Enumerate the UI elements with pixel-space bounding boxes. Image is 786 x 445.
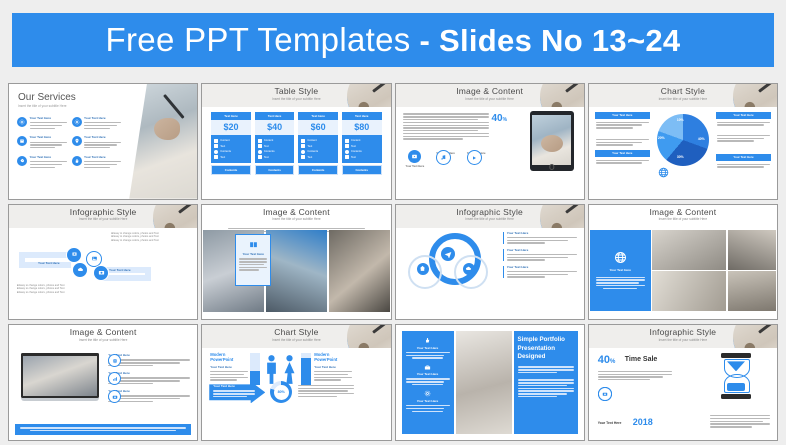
stat-unit: %	[610, 359, 615, 365]
slide-thumbnail-chart-style-people[interactable]: Chart Style Insert the title of your sub…	[201, 324, 391, 441]
slide5-header: Infographic Style Insert the title of yo…	[9, 205, 197, 228]
slide-thumbnail-image-content-tablet[interactable]: Image & Content Insert the title of your…	[395, 83, 585, 200]
presentation-icon[interactable]	[66, 247, 82, 263]
chart-callout[interactable]	[716, 132, 771, 143]
airplane-icon[interactable]	[441, 247, 455, 261]
rocket-icon	[17, 156, 27, 166]
chart-callout[interactable]: Your Text Here	[716, 154, 771, 169]
column-rows: Content Text Contents Text	[255, 135, 295, 163]
column-rows: Content Text Contents Text	[298, 135, 338, 163]
slide9-footer-banner	[15, 424, 191, 435]
slide9-subtitle: Insert the title of your subtitle Here	[9, 338, 197, 342]
slide12-footer-body	[710, 414, 770, 429]
left-label: Modern PowerPoint	[210, 353, 248, 363]
portfolio-photo	[456, 331, 512, 434]
service-label: Your Text Here	[30, 136, 67, 140]
item-label: Your Text Here	[406, 347, 450, 351]
slide7-items: Your Text Here Your Text Here Your Text …	[503, 232, 577, 283]
screenshot-page: Free PPT Templates - Slides No 13~24 Our…	[0, 0, 786, 445]
ring-item[interactable]: Your Text Here	[503, 249, 577, 261]
callout-head: Your Text Here	[595, 112, 650, 119]
settings-icon	[72, 117, 82, 127]
column-button[interactable]: Contents	[342, 165, 382, 175]
slide8-subtitle: Insert the title of your subtitle Here	[589, 217, 777, 221]
photo	[652, 271, 727, 311]
cloud-icon[interactable]	[463, 263, 475, 275]
chart-callout[interactable]	[595, 136, 650, 147]
row-label: Text	[307, 145, 312, 148]
portfolio-item[interactable]: Your Text Here	[406, 363, 450, 386]
slide1-photo	[129, 84, 197, 199]
page-banner: Free PPT Templates - Slides No 13~24	[12, 13, 774, 67]
slide-thumbnail-image-content-photos[interactable]: Image & Content Insert the title of your…	[201, 204, 391, 321]
cloud-icon[interactable]	[72, 262, 88, 278]
banner-title: Free PPT Templates - Slides No 13~24	[106, 21, 681, 59]
slide8-title: Image & Content	[589, 207, 777, 217]
column-price: $60	[298, 120, 338, 135]
pricing-columns: Text Here $20 Content Text Contents Text…	[211, 112, 381, 175]
slice-label-40: 40%	[698, 137, 705, 141]
slice-label-20: 20%	[658, 136, 665, 140]
banner-title-main: Free PPT Templates	[106, 21, 411, 58]
service-label: Your Text Here	[84, 136, 121, 140]
chart-callout[interactable]: Your Text Here	[595, 112, 650, 130]
callout-head: Your Text Here	[716, 154, 771, 161]
feature-item[interactable]: Your Text Here	[108, 390, 190, 403]
music-note-icon	[436, 150, 451, 165]
bullet-item: ■ Easy to change colors, photos and Text	[111, 239, 189, 243]
portfolio-item[interactable]: Your Text Here	[406, 336, 450, 359]
slide12-body	[598, 369, 672, 382]
slide-thumbnail-chart-style-donut[interactable]: Chart Style Insert the title of your sub…	[588, 83, 778, 200]
stat-value: 40	[492, 113, 503, 124]
slide-thumbnail-table-style[interactable]: Table Style Insert the title of your sub…	[201, 83, 391, 200]
slide6-title: Image & Content	[202, 207, 390, 217]
percent-gauge: 80%	[270, 381, 292, 403]
gear-icon	[423, 389, 432, 398]
item-head: Your Text Here	[507, 232, 577, 236]
pricing-column[interactable]: Text Here $80 Content Text Contents Text…	[342, 112, 382, 175]
slide3-body-text	[403, 112, 489, 141]
corner-photo	[151, 205, 197, 228]
portfolio-title: Simple Portfolio Presentation Designed	[518, 336, 574, 361]
tablet-device-mockup	[530, 111, 574, 171]
column-head: Text Here	[298, 112, 338, 120]
stat-unit: %	[503, 117, 507, 123]
laptop-mockup	[21, 353, 99, 401]
slide4-header: Chart Style Insert the title of your sub…	[589, 84, 777, 107]
globe-icon	[613, 250, 628, 265]
slide-thumbnail-image-content-collage[interactable]: Image & Content Insert the title of your…	[588, 204, 778, 321]
media-icon-item[interactable]: Your Text Here	[406, 150, 425, 168]
flow-label-left: Your Text Here	[38, 262, 60, 266]
row-label: Text	[351, 156, 356, 159]
play-circle-icon	[467, 150, 482, 165]
donut-chart: 10% 20% 30% 40%	[657, 114, 709, 166]
slide-thumbnail-infographic-rings[interactable]: Infographic Style Insert the title of yo…	[395, 204, 585, 321]
row-label: Content	[264, 139, 273, 142]
service-label: Your Text Here	[30, 156, 67, 160]
book-open-icon	[248, 239, 259, 250]
chart-callout[interactable]: Your Text Here	[716, 112, 771, 127]
slide9-items: Your Text Here Your Text Here Your Text …	[108, 354, 190, 408]
slide-thumbnail-our-services[interactable]: Our Services Insert the title of your su…	[8, 83, 198, 200]
thumbs-up-icon	[423, 336, 432, 345]
arrow-head: Your Text Here	[213, 385, 261, 389]
row-label: Text	[351, 145, 356, 148]
slide5-bullets-top: ■ Easy to change colors, photos and Text…	[111, 232, 189, 243]
slide7-header: Infographic Style Insert the title of yo…	[396, 205, 584, 228]
icon-caption: Your Text Here	[406, 165, 425, 168]
service-item[interactable]: Your Text Here	[72, 117, 122, 130]
card-label: Your Text Here	[239, 253, 267, 257]
slide12-header: Infographic Style Insert the title of yo…	[589, 325, 777, 348]
gear-icon	[17, 117, 27, 127]
row-label: Text	[264, 145, 269, 148]
ring-item[interactable]: Your Text Here	[503, 266, 577, 278]
slide9-title: Image & Content	[9, 327, 197, 337]
service-item[interactable]: Your Text Here	[17, 156, 67, 169]
corner-photo	[538, 205, 584, 228]
bullet-item: ■ Easy to change colors, photos and Text	[17, 291, 93, 295]
row-label: Contents	[220, 150, 231, 153]
slide6-header: Image & Content Insert the title of your…	[202, 205, 390, 228]
ring-item[interactable]: Your Text Here	[503, 232, 577, 244]
panel-label: Your Text Here	[609, 269, 631, 273]
hourglass-icon	[721, 353, 751, 399]
slice-label-30: 30%	[677, 155, 684, 159]
column-button[interactable]: Contents	[255, 165, 295, 175]
photo	[652, 230, 727, 270]
item-label: Your Text Here	[406, 373, 450, 377]
slide1-subtitle: Insert the title of your subtitle Here	[18, 104, 76, 108]
callout-head: Your Text Here	[716, 112, 771, 119]
row-label: Text	[220, 145, 225, 148]
slide5-bullets-bottom: ■ Easy to change colors, photos and Text…	[17, 284, 93, 295]
row-label: Contents	[351, 150, 362, 153]
slide10-right-block: Modern PowerPoint Your Text Here	[314, 353, 352, 382]
service-label: Your Text Here	[84, 156, 121, 160]
slide10-header: Chart Style Insert the title of your sub…	[202, 325, 390, 348]
year-value: 2018	[633, 417, 653, 427]
service-item[interactable]: Your Text Here	[17, 117, 67, 130]
video-play-icon	[408, 150, 421, 163]
photo-collage	[652, 230, 776, 312]
globe-icon	[657, 166, 709, 179]
service-label: Your Text Here	[30, 117, 67, 121]
photo-row	[202, 230, 390, 313]
slide2-header: Table Style Insert the title of your sub…	[202, 84, 390, 107]
service-item[interactable]: Your Text Here	[72, 156, 122, 169]
slide3-stat: 40%	[492, 113, 508, 124]
slide6-subtitle: Insert the title of your subtitle Here	[202, 217, 390, 221]
bar-gauge-right	[301, 353, 311, 385]
right-label: Modern PowerPoint	[314, 353, 352, 363]
chart-callout[interactable]: Your Text Here	[595, 150, 650, 165]
slide10-left-block: Modern PowerPoint Your Text Here	[210, 353, 248, 382]
camera-icon[interactable]	[93, 265, 109, 281]
slice-label-10: 10%	[677, 118, 684, 122]
row-label: Text	[264, 156, 269, 159]
slide-grid: Our Services Insert the title of your su…	[8, 83, 778, 441]
item-head: Your Text Here	[507, 266, 577, 270]
camera-icon[interactable]	[598, 387, 612, 401]
right-sub: Your Text Here	[314, 366, 352, 370]
column-button[interactable]: Contents	[298, 165, 338, 175]
corner-photo	[538, 84, 584, 107]
banner-title-rest: - Slides No 13~24	[419, 23, 680, 58]
slide9-header: Image & Content Insert the title of your…	[9, 325, 197, 348]
flow-label-right: Your Text Here	[109, 269, 131, 273]
media-icon-item[interactable]: Your Text Here	[467, 150, 486, 168]
column-price: $40	[255, 120, 295, 135]
photo	[266, 230, 327, 313]
row-label: Content	[307, 139, 316, 142]
gauge-value: 80%	[274, 385, 289, 400]
slide1-service-grid: Your Text Here Your Text Here Your Text …	[17, 117, 121, 169]
slide8-header: Image & Content Insert the title of your…	[589, 205, 777, 228]
slide10-right-body	[298, 383, 354, 398]
corner-photo	[731, 325, 777, 348]
item-head: Your Text Here	[507, 249, 577, 253]
pricing-column[interactable]: Text Here $20 Content Text Contents Text…	[211, 112, 251, 175]
column-rows: Content Text Contents Text	[211, 135, 251, 163]
slide3-media-icons: Your Text Here Your Text Here Your Text …	[406, 150, 486, 168]
feature-item[interactable]: Your Text Here	[108, 354, 190, 367]
time-sale-label: Time Sale	[625, 356, 658, 363]
portfolio-right-panel[interactable]: Simple Portfolio Presentation Designed	[514, 331, 578, 434]
feature-item[interactable]: Your Text Here	[108, 372, 190, 385]
location-pin-icon	[72, 136, 82, 146]
column-rows: Content Text Contents Text	[342, 135, 382, 163]
column-button[interactable]: Contents	[211, 165, 251, 175]
row-label: Contents	[307, 150, 318, 153]
slide-thumbnail-infographic-hourglass[interactable]: Infographic Style Insert the title of yo…	[588, 324, 778, 441]
callout-head: Your Text Here	[595, 150, 650, 157]
slide1-header: Our Services Insert the title of your su…	[18, 92, 76, 108]
slide-thumbnail-simple-portfolio[interactable]: Your Text Here Your Text Here Your Text …	[395, 324, 585, 441]
column-price: $80	[342, 120, 382, 135]
left-sub: Your Text Here	[210, 366, 248, 370]
time-sale-stat: 40%	[598, 354, 616, 366]
briefcase-icon	[423, 363, 432, 372]
slide-thumbnail-image-content-laptop[interactable]: Image & Content Insert the title of your…	[8, 324, 198, 441]
slide-thumbnail-infographic-arrows[interactable]: Infographic Style Insert the title of yo…	[8, 204, 198, 321]
blue-info-panel[interactable]: Your Text Here	[590, 230, 651, 312]
photo	[329, 230, 390, 313]
pricing-column[interactable]: Text Here $40 Content Text Contents Text…	[255, 112, 295, 175]
corner-photo	[345, 325, 391, 348]
highlight-card[interactable]: Your Text Here	[235, 234, 271, 286]
corner-photo	[731, 84, 777, 107]
slide1-title: Our Services	[18, 92, 76, 103]
item-label: Your Text Here	[406, 400, 450, 404]
footer-label: Your Text Here	[598, 421, 622, 425]
photo	[728, 271, 776, 311]
media-icon-item[interactable]: Your Text Here	[436, 150, 455, 168]
column-head: Text Here	[342, 112, 382, 120]
building-icon	[17, 136, 27, 146]
column-price: $20	[211, 120, 251, 135]
thumbs-up-icon	[72, 156, 82, 166]
home-icon[interactable]	[417, 263, 429, 275]
stat-value: 40	[598, 354, 610, 366]
portfolio-left-panel[interactable]: Your Text Here Your Text Here Your Text …	[402, 331, 454, 434]
portfolio-item[interactable]: Your Text Here	[406, 389, 450, 412]
row-label: Text	[220, 156, 225, 159]
service-label: Your Text Here	[84, 117, 121, 121]
row-label: Contents	[264, 150, 275, 153]
pricing-column[interactable]: Text Here $60 Content Text Contents Text…	[298, 112, 338, 175]
slide3-header: Image & Content Insert the title of your…	[396, 84, 584, 107]
bar-gauge-left	[250, 353, 260, 385]
row-label: Content	[351, 139, 360, 142]
photo	[728, 230, 776, 270]
corner-photo	[345, 84, 391, 107]
column-head: Text Here	[255, 112, 295, 120]
row-label: Text	[307, 156, 312, 159]
service-item[interactable]: Your Text Here	[17, 136, 67, 149]
service-item[interactable]: Your Text Here	[72, 136, 122, 149]
column-head: Text Here	[211, 112, 251, 120]
row-label: Content	[220, 139, 229, 142]
